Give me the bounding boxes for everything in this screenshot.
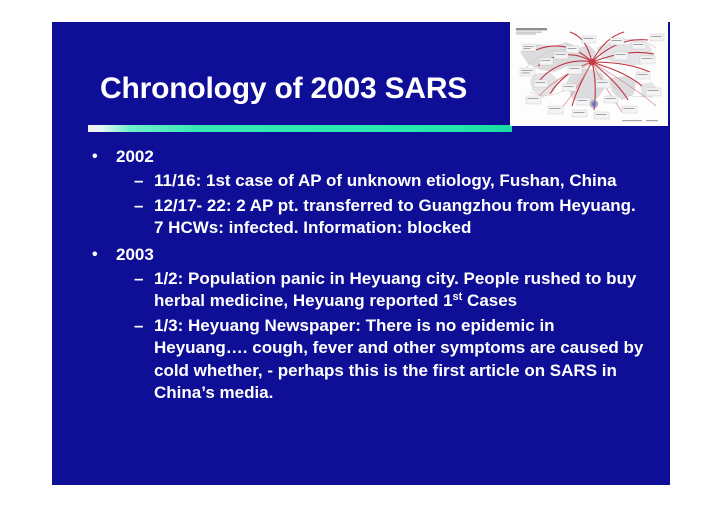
slide-body: • 2002 – 11/16: 1st case of AP of unknow… [92, 142, 664, 405]
slide-canvas: Chronology of 2003 SARS • 2002 – 11/16: … [0, 0, 720, 509]
list-item-label: 1/2: Population panic in Heyuang city. P… [154, 268, 644, 313]
list-item: – 1/3: Heyuang Newspaper: There is no ep… [134, 315, 664, 405]
title-underline-rule [88, 125, 512, 132]
sars-spread-map-graphic [510, 22, 668, 126]
list-item: – 1/2: Population panic in Heyuang city.… [134, 268, 664, 313]
list-item-label: 2003 [116, 244, 664, 266]
dash-marker-icon: – [134, 268, 154, 291]
list-item-label: 1/3: Heyuang Newspaper: There is no epid… [154, 315, 644, 405]
list-item-text-main: 1/2: Population panic in Heyuang city. P… [154, 269, 636, 311]
bullet-marker-icon: • [92, 244, 116, 266]
list-item-text-tail: Cases [462, 291, 517, 310]
ordinal-superscript: st [453, 291, 463, 303]
dash-marker-icon: – [134, 195, 154, 218]
list-item: • 2003 [92, 244, 664, 266]
list-item: – 12/17- 22: 2 AP pt. transferred to Gua… [134, 195, 664, 240]
list-item-label: 11/16: 1st case of AP of unknown etiolog… [154, 170, 644, 193]
list-item: • 2002 [92, 146, 664, 168]
title-block: Chronology of 2003 SARS [100, 72, 520, 106]
dash-marker-icon: – [134, 170, 154, 193]
sars-spread-map-image [510, 22, 668, 126]
list-item-label: 2002 [116, 146, 664, 168]
list-item: – 11/16: 1st case of AP of unknown etiol… [134, 170, 664, 193]
page-title: Chronology of 2003 SARS [100, 72, 520, 106]
dash-marker-icon: – [134, 315, 154, 338]
bullet-marker-icon: • [92, 146, 116, 168]
list-item-label: 12/17- 22: 2 AP pt. transferred to Guang… [154, 195, 644, 240]
